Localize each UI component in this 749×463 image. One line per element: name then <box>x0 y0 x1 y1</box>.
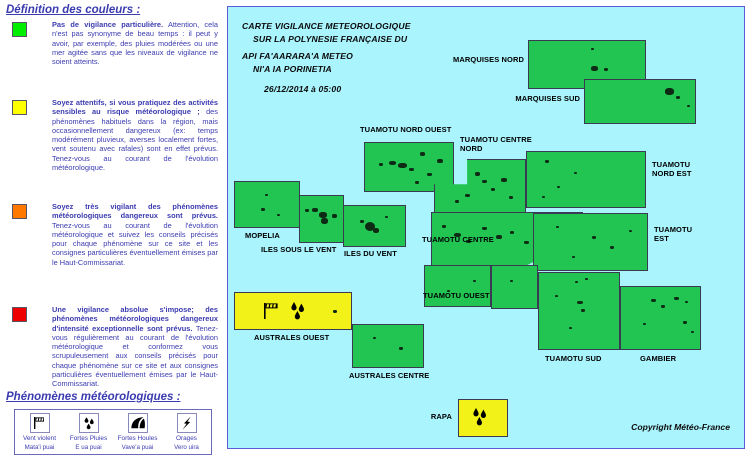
copyright-text: Copyright Météo-France <box>631 422 730 432</box>
map-title-line4: NI'A IA PORINETIA <box>242 63 411 76</box>
zone-label-tuamotu-nord-ouest: TUAMOTU NORD OUEST <box>360 125 451 134</box>
zone-iles-sous-le-vent[interactable] <box>299 195 344 243</box>
phenomenon-label-fr: Vent violent <box>16 435 64 444</box>
phenomena-legend-box: Vent violent Mata'i puai Fortes Pluies E… <box>14 409 212 455</box>
phenomenon-label-ty: Vave'a puai <box>114 444 162 453</box>
zone-iles-du-vent[interactable] <box>343 205 406 247</box>
zone-australes-ouest[interactable] <box>234 292 352 330</box>
lightning-icon <box>177 413 197 433</box>
zone-label-australes-ouest: AUSTRALES OUEST <box>254 333 329 342</box>
phenomenon-fortes-pluies: Fortes Pluies E ua puai <box>65 413 113 452</box>
vigilance-map-page: Définition des couleurs : Pas de vigilan… <box>0 0 749 463</box>
red-level-rest: Tenez-vous régulièrement au courant de l… <box>52 324 218 389</box>
zone-label-tuamotu-nord-est: TUAMOTU NORD EST <box>652 160 692 178</box>
zone-label-mopelia: MOPELIA <box>245 231 280 240</box>
color-levels-list: Pas de vigilance particulière. Attention… <box>0 20 224 421</box>
zone-tuamotu-est[interactable] <box>533 213 648 271</box>
phenomenon-label-fr: Fortes Houles <box>114 435 162 444</box>
zone-label-australes-centre: AUSTRALES CENTRE <box>349 371 429 380</box>
map-title-line2: SUR LA POLYNESIE FRANÇAISE DU <box>242 33 411 46</box>
zone-tuamotu-sud[interactable] <box>538 272 620 350</box>
color-level-orange: Soyez très vigilant des phénomènes météo… <box>0 202 224 299</box>
phenomenon-orages: Orages Vero uira <box>163 413 211 452</box>
rain-drops-icon <box>289 301 311 323</box>
phenomenon-label-ty: E ua puai <box>65 444 113 453</box>
phenomenon-label-ty: Mata'i puai <box>16 444 64 453</box>
phenomenon-label-ty: Vero uira <box>163 444 211 453</box>
zone-label-tuamotu-sud: TUAMOTU SUD <box>545 354 602 363</box>
map-title-line1: CARTE VIGILANCE METEOROLOGIQUE <box>242 21 411 31</box>
orange-swatch <box>12 204 27 219</box>
zone-label-tuamotu-centre-nord: TUAMOTU CENTRE NORD <box>460 135 532 153</box>
phenomenon-fortes-houles: Fortes Houles Vave'a puai <box>114 413 162 452</box>
rain-drops-icon <box>79 413 99 433</box>
zone-tuamotu-ouest[interactable] <box>424 265 491 307</box>
yellow-swatch <box>12 100 27 115</box>
zone-label-tuamotu-est: TUAMOTU EST <box>654 225 692 243</box>
phenomenon-vent-violent: Vent violent Mata'i puai <box>16 413 64 452</box>
map-title: CARTE VIGILANCE METEOROLOGIQUE SUR LA PO… <box>242 20 411 96</box>
legend-panel: Définition des couleurs : Pas de vigilan… <box>0 0 224 463</box>
zone-marquises-sud[interactable] <box>584 79 696 124</box>
yellow-level-bold: Soyez attentifs, si vous pratiquez des a… <box>52 98 218 116</box>
red-swatch <box>12 307 27 322</box>
green-swatch <box>12 22 27 37</box>
zone-label-tuamotu-ouest: TUAMOTU OUEST <box>423 291 490 300</box>
zone-mopelia[interactable] <box>234 181 300 228</box>
map-title-line3: API FA'AARARA'A METEO <box>242 51 353 61</box>
color-level-green: Pas de vigilance particulière. Attention… <box>0 20 224 92</box>
zone-tuamotu-centre-sud[interactable] <box>491 265 538 309</box>
wind-flag-icon <box>263 302 285 322</box>
map-date: 26/12/2014 à 05:00 <box>242 75 411 96</box>
phenomena-title: Phénomènes météorologiques : <box>0 391 180 403</box>
orange-level-rest: Tenez-vous au courant de l'évolution mét… <box>52 221 218 267</box>
green-level-bold: Pas de vigilance particulière. <box>52 20 163 29</box>
zone-label-gambier: GAMBIER <box>640 354 676 363</box>
orange-level-bold: Soyez très vigilant des phénomènes météo… <box>52 202 218 220</box>
phenomenon-label-fr: Fortes Pluies <box>65 435 113 444</box>
zone-label-marquises-nord: MARQUISES NORD <box>446 55 524 64</box>
map-panel: CARTE VIGILANCE METEOROLOGIQUE SUR LA PO… <box>227 6 745 449</box>
phenomenon-label-fr: Orages <box>163 435 211 444</box>
zone-label-tuamotu-centre: TUAMOTU CENTRE <box>422 235 494 244</box>
zone-label-iles-sous-le-vent: ILES SOUS LE VENT <box>261 245 336 254</box>
wind-flag-icon <box>30 413 50 433</box>
zone-label-iles-du-vent: ILES DU VENT <box>344 249 397 258</box>
rain-drops-icon <box>471 407 493 429</box>
color-level-yellow: Soyez attentifs, si vous pratiquez des a… <box>0 98 224 196</box>
zone-australes-centre[interactable] <box>352 324 424 368</box>
zone-rapa[interactable] <box>458 399 508 437</box>
yellow-level-rest: des phénomènes habituels dans la région,… <box>52 107 218 172</box>
zone-label-marquises-sud: MARQUISES SUD <box>500 94 580 103</box>
colors-definition-title: Définition des couleurs : <box>0 4 140 16</box>
zone-label-rapa: RAPA <box>414 412 452 421</box>
zone-tuamotu-nord-est[interactable] <box>526 151 646 208</box>
wave-icon <box>128 413 148 433</box>
zone-gambier[interactable] <box>620 286 701 350</box>
